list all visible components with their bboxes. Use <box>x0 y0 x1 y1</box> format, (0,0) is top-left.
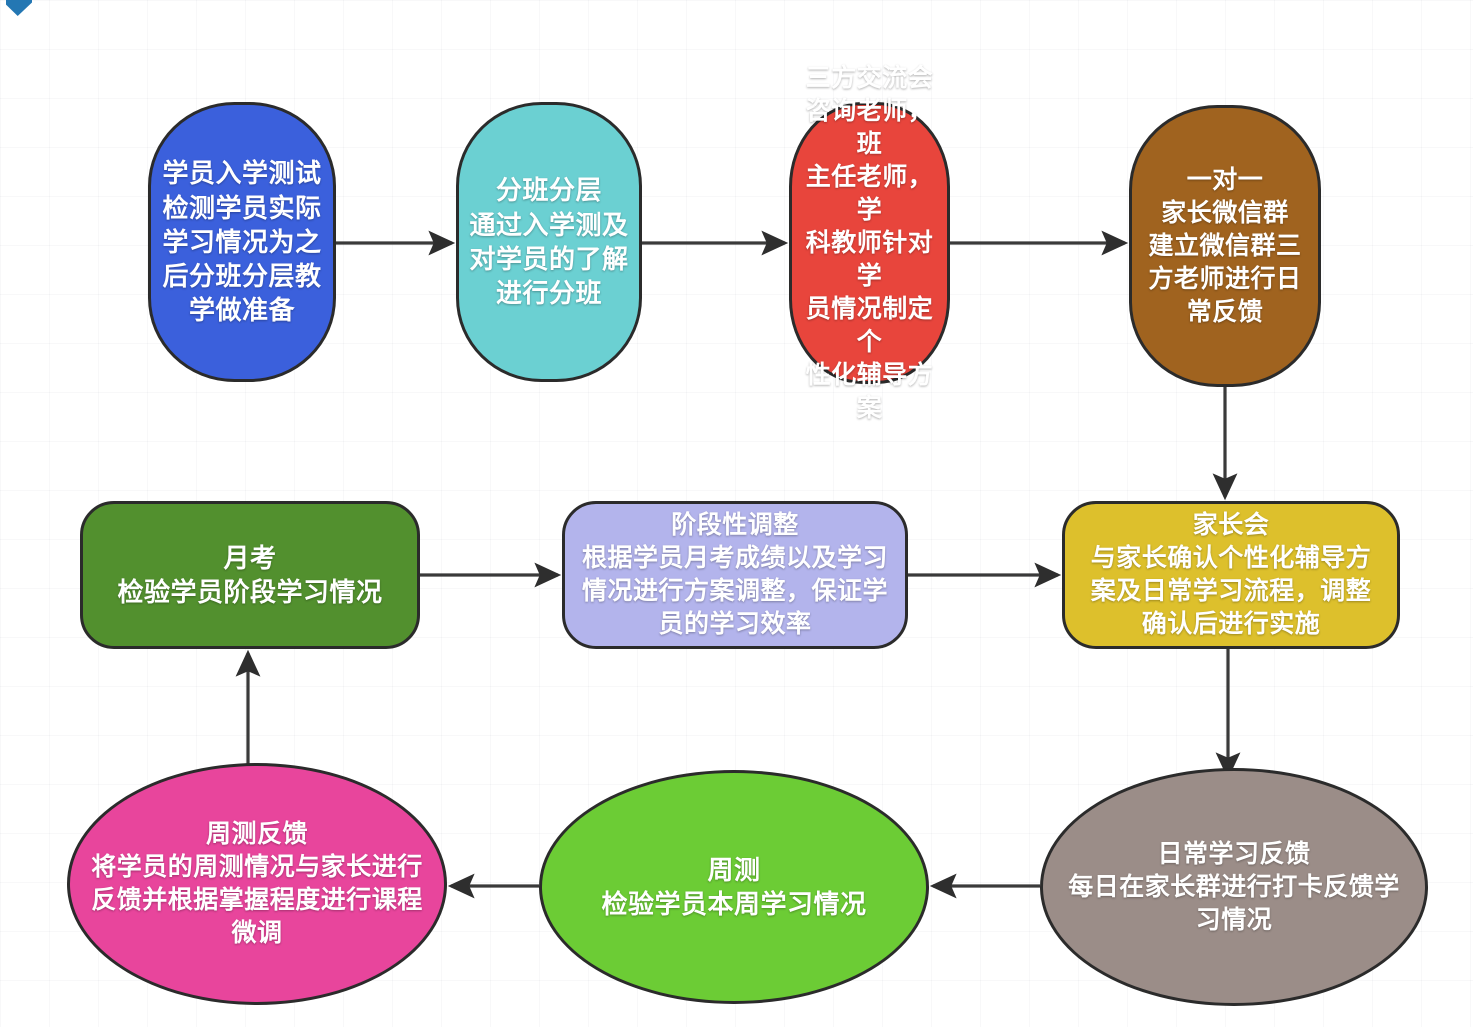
node-weekly-test[interactable]: 周测 检验学员本周学习情况 <box>539 770 929 1004</box>
node-monthly-exam[interactable]: 月考 检验学员阶段学习情况 <box>80 501 420 649</box>
node-entrance-test[interactable]: 学员入学测试 检测学员实际 学习情况为之 后分班分层教 学做准备 <box>148 102 336 382</box>
node-daily-study-feedback[interactable]: 日常学习反馈 每日在家长群进行打卡反馈学 习情况 <box>1040 768 1428 1006</box>
node-weekly-test-feedback[interactable]: 周测反馈 将学员的周测情况与家长进行 反馈并根据掌握程度进行课程 微调 <box>67 763 447 1005</box>
node-three-party-meeting[interactable]: 三方交流会 咨询老师，班 主任老师，学 科教师针对学 员情况制定个 性化辅导方案 <box>789 102 950 384</box>
node-parent-meeting[interactable]: 家长会 与家长确认个性化辅导方 案及日常学习流程，调整 确认后进行实施 <box>1062 501 1400 649</box>
flowchart-canvas: 学员入学测试 检测学员实际 学习情况为之 后分班分层教 学做准备 分班分层 通过… <box>0 0 1473 1027</box>
node-class-placement[interactable]: 分班分层 通过入学测及 对学员的了解 进行分班 <box>456 102 642 382</box>
blue-flag-mark-icon <box>6 0 32 16</box>
node-stage-adjustment[interactable]: 阶段性调整 根据学员月考成绩以及学习 情况进行方案调整，保证学 员的学习效率 <box>562 501 908 649</box>
node-one-to-one-wechat-group[interactable]: 一对一 家长微信群 建立微信群三 方老师进行日 常反馈 <box>1129 105 1321 387</box>
